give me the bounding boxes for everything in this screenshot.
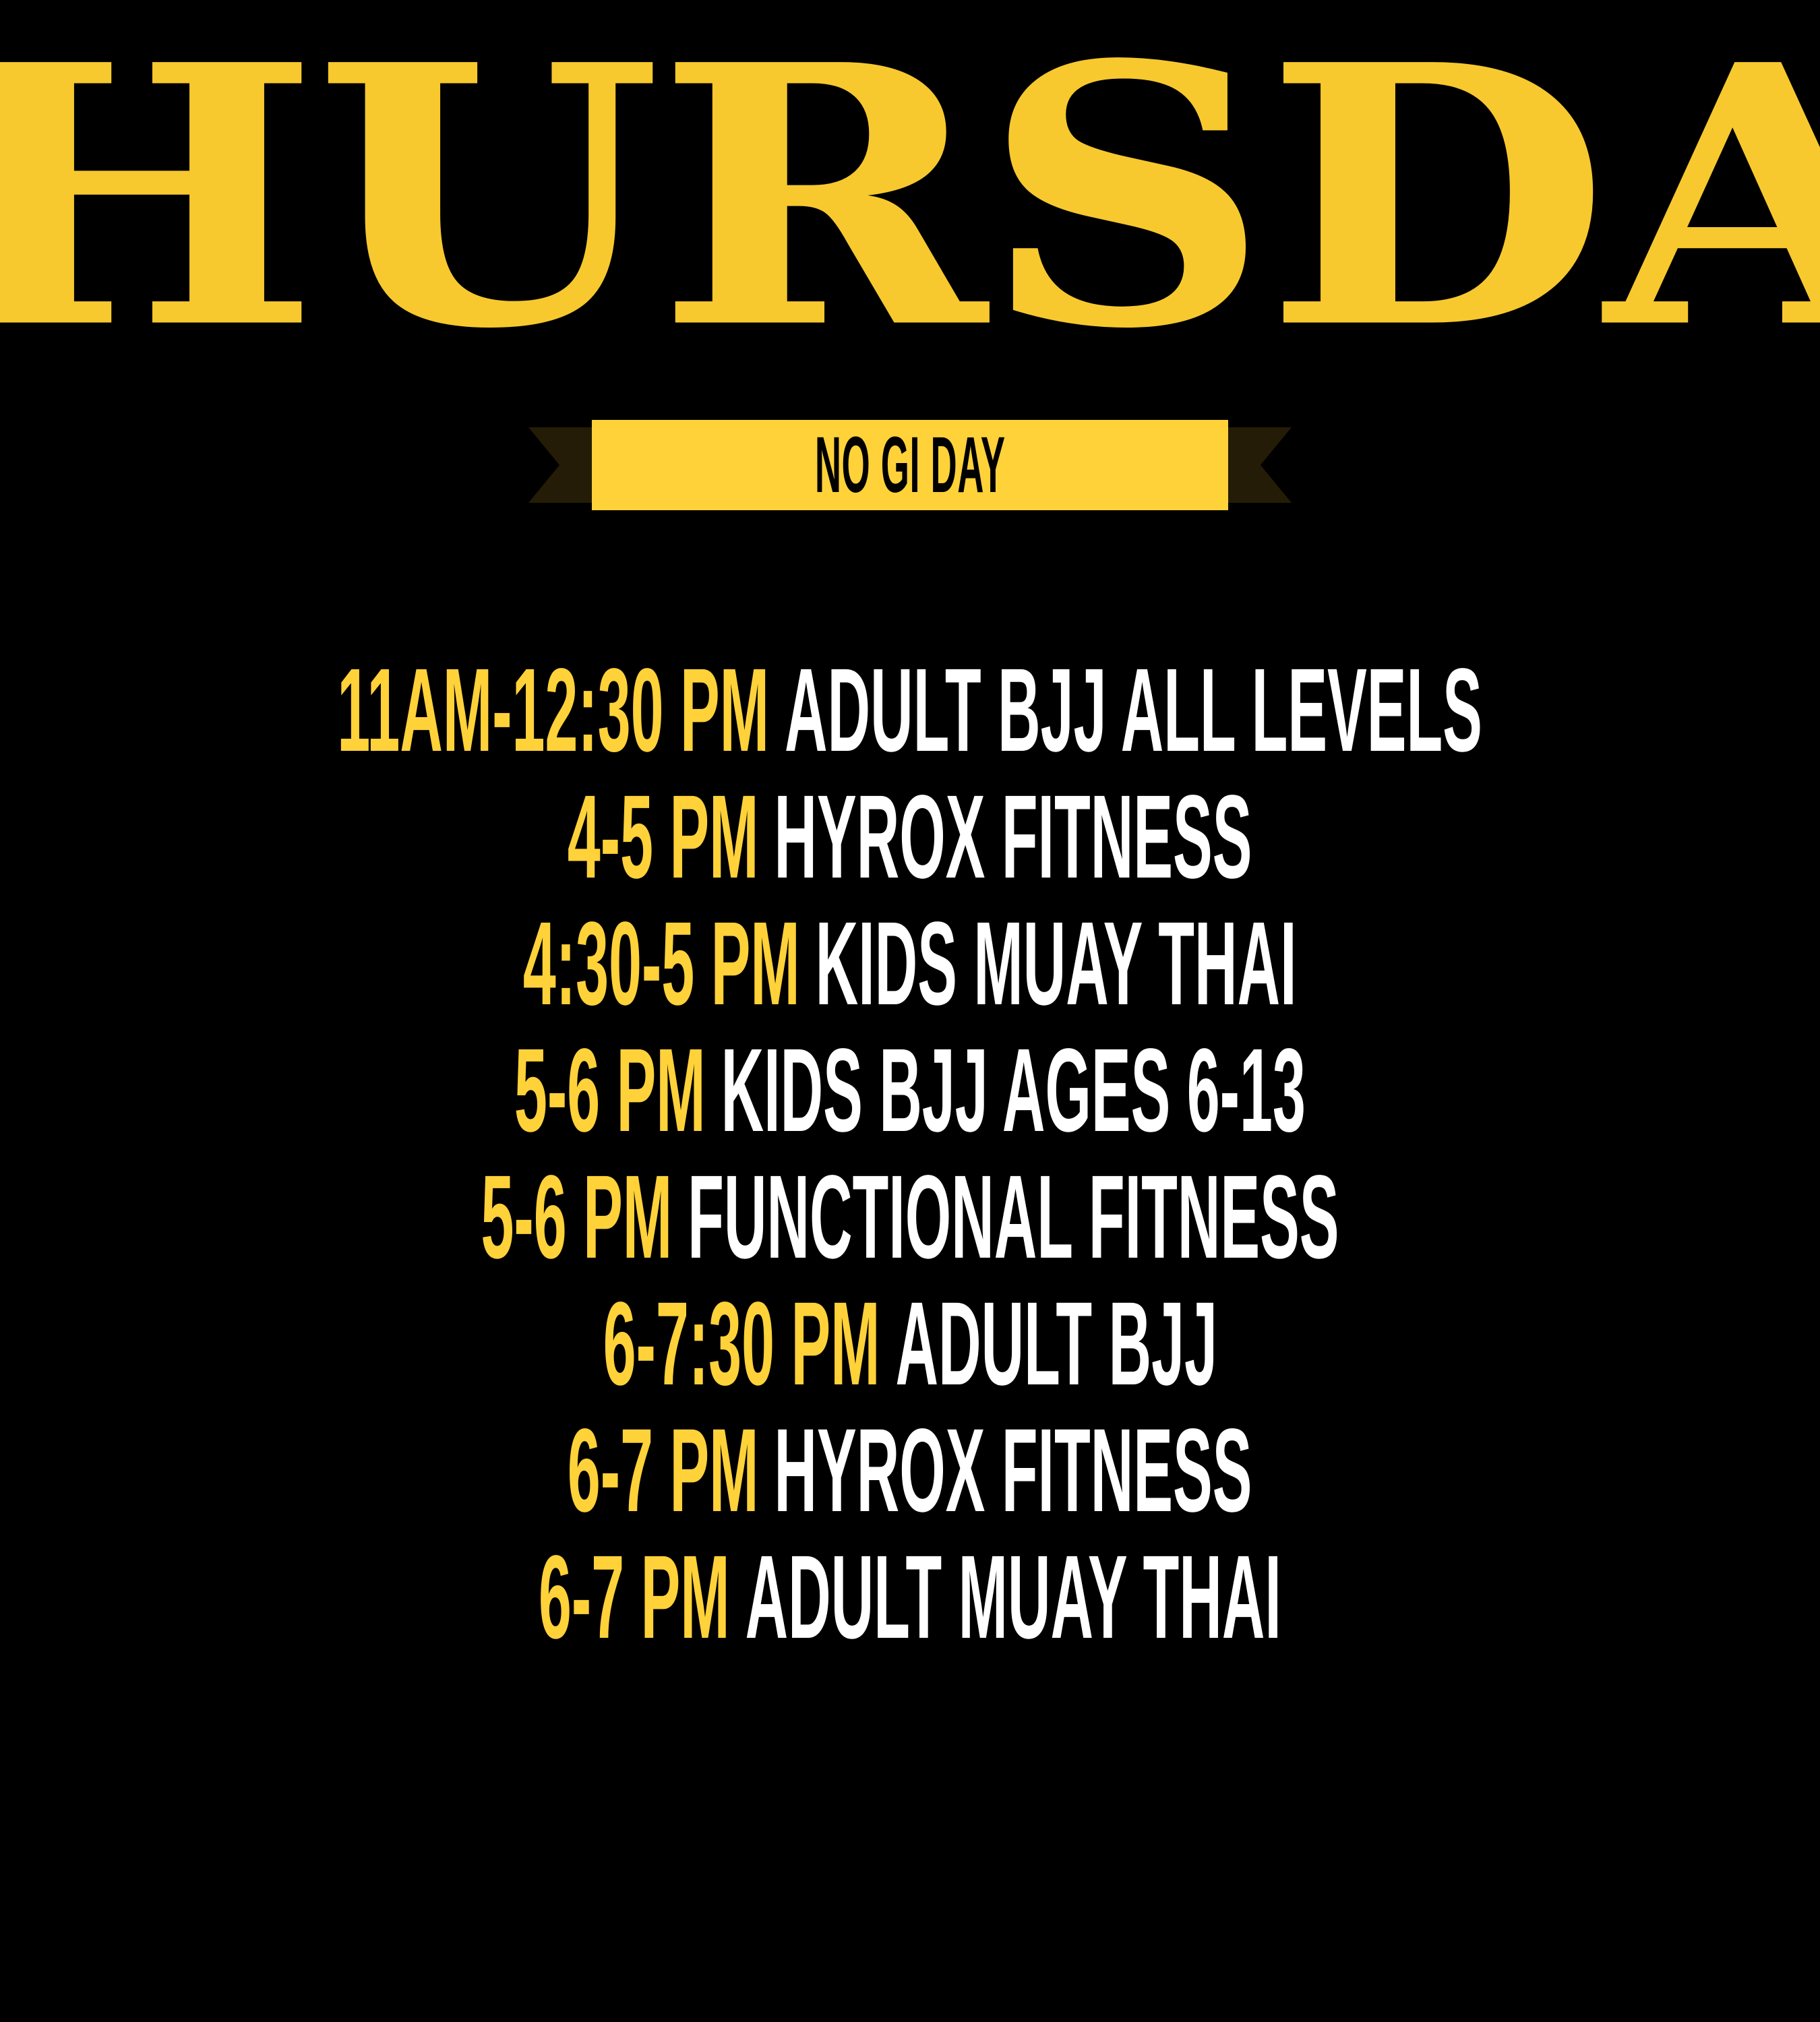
schedule-time: 6-7 PM — [539, 1538, 730, 1657]
schedule-row: 6-7 PM HYROX FITNESS — [225, 1411, 1594, 1538]
banner-label: NO GI DAY — [815, 425, 1006, 505]
schedule-row: 6-7 PM ADULT MUAY THAI — [167, 1538, 1653, 1665]
schedule-row: 11AM-12:30 PM ADULT BJJ ALL LEVELS — [0, 651, 1820, 778]
schedule-row: 5-6 PM FUNCTIONAL FITNESS — [52, 1158, 1768, 1285]
poster-canvas: THURSDAY NO GI DAY 11AM-12:30 PM ADULT B… — [0, 0, 1820, 2022]
schedule-class: ADULT MUAY THAI — [746, 1538, 1281, 1657]
schedule-class: KIDS MUAY THAI — [816, 905, 1297, 1023]
schedule-time: 11AM-12:30 PM — [338, 651, 770, 770]
schedule-class: KIDS BJJ AGES 6-13 — [721, 1031, 1306, 1150]
schedule-time: 5-6 PM — [481, 1158, 672, 1277]
schedule-time: 6-7 PM — [568, 1411, 759, 1530]
schedule-class: ADULT BJJ — [895, 1285, 1217, 1403]
schedule-row: 4-5 PM HYROX FITNESS — [225, 778, 1594, 905]
banner-tail-left-icon — [528, 427, 593, 503]
schedule-class: ADULT BJJ ALL LEVELS — [785, 651, 1482, 770]
schedule-class: HYROX FITNESS — [775, 1411, 1252, 1530]
schedule-time: 6-7:30 PM — [603, 1285, 880, 1403]
page-title-container: THURSDAY — [0, 53, 1820, 342]
schedule-row: 6-7:30 PM ADULT BJJ — [296, 1285, 1525, 1411]
schedule-row: 4:30-5 PM KIDS MUAY THAI — [136, 905, 1683, 1031]
schedule-class: HYROX FITNESS — [775, 778, 1252, 896]
schedule-time: 5-6 PM — [514, 1031, 706, 1150]
banner-panel: NO GI DAY — [592, 420, 1228, 510]
banner-tail-right-icon — [1227, 427, 1292, 503]
page-title: THURSDAY — [0, 58, 1820, 336]
schedule-row: 5-6 PM KIDS BJJ AGES 6-13 — [119, 1031, 1701, 1158]
schedule-time: 4:30-5 PM — [523, 905, 800, 1023]
schedule-list: 11AM-12:30 PM ADULT BJJ ALL LEVELS 4-5 P… — [0, 651, 1820, 1665]
schedule-time: 4-5 PM — [568, 778, 759, 896]
no-gi-day-banner: NO GI DAY — [528, 418, 1292, 512]
schedule-class: FUNCTIONAL FITNESS — [688, 1158, 1339, 1277]
